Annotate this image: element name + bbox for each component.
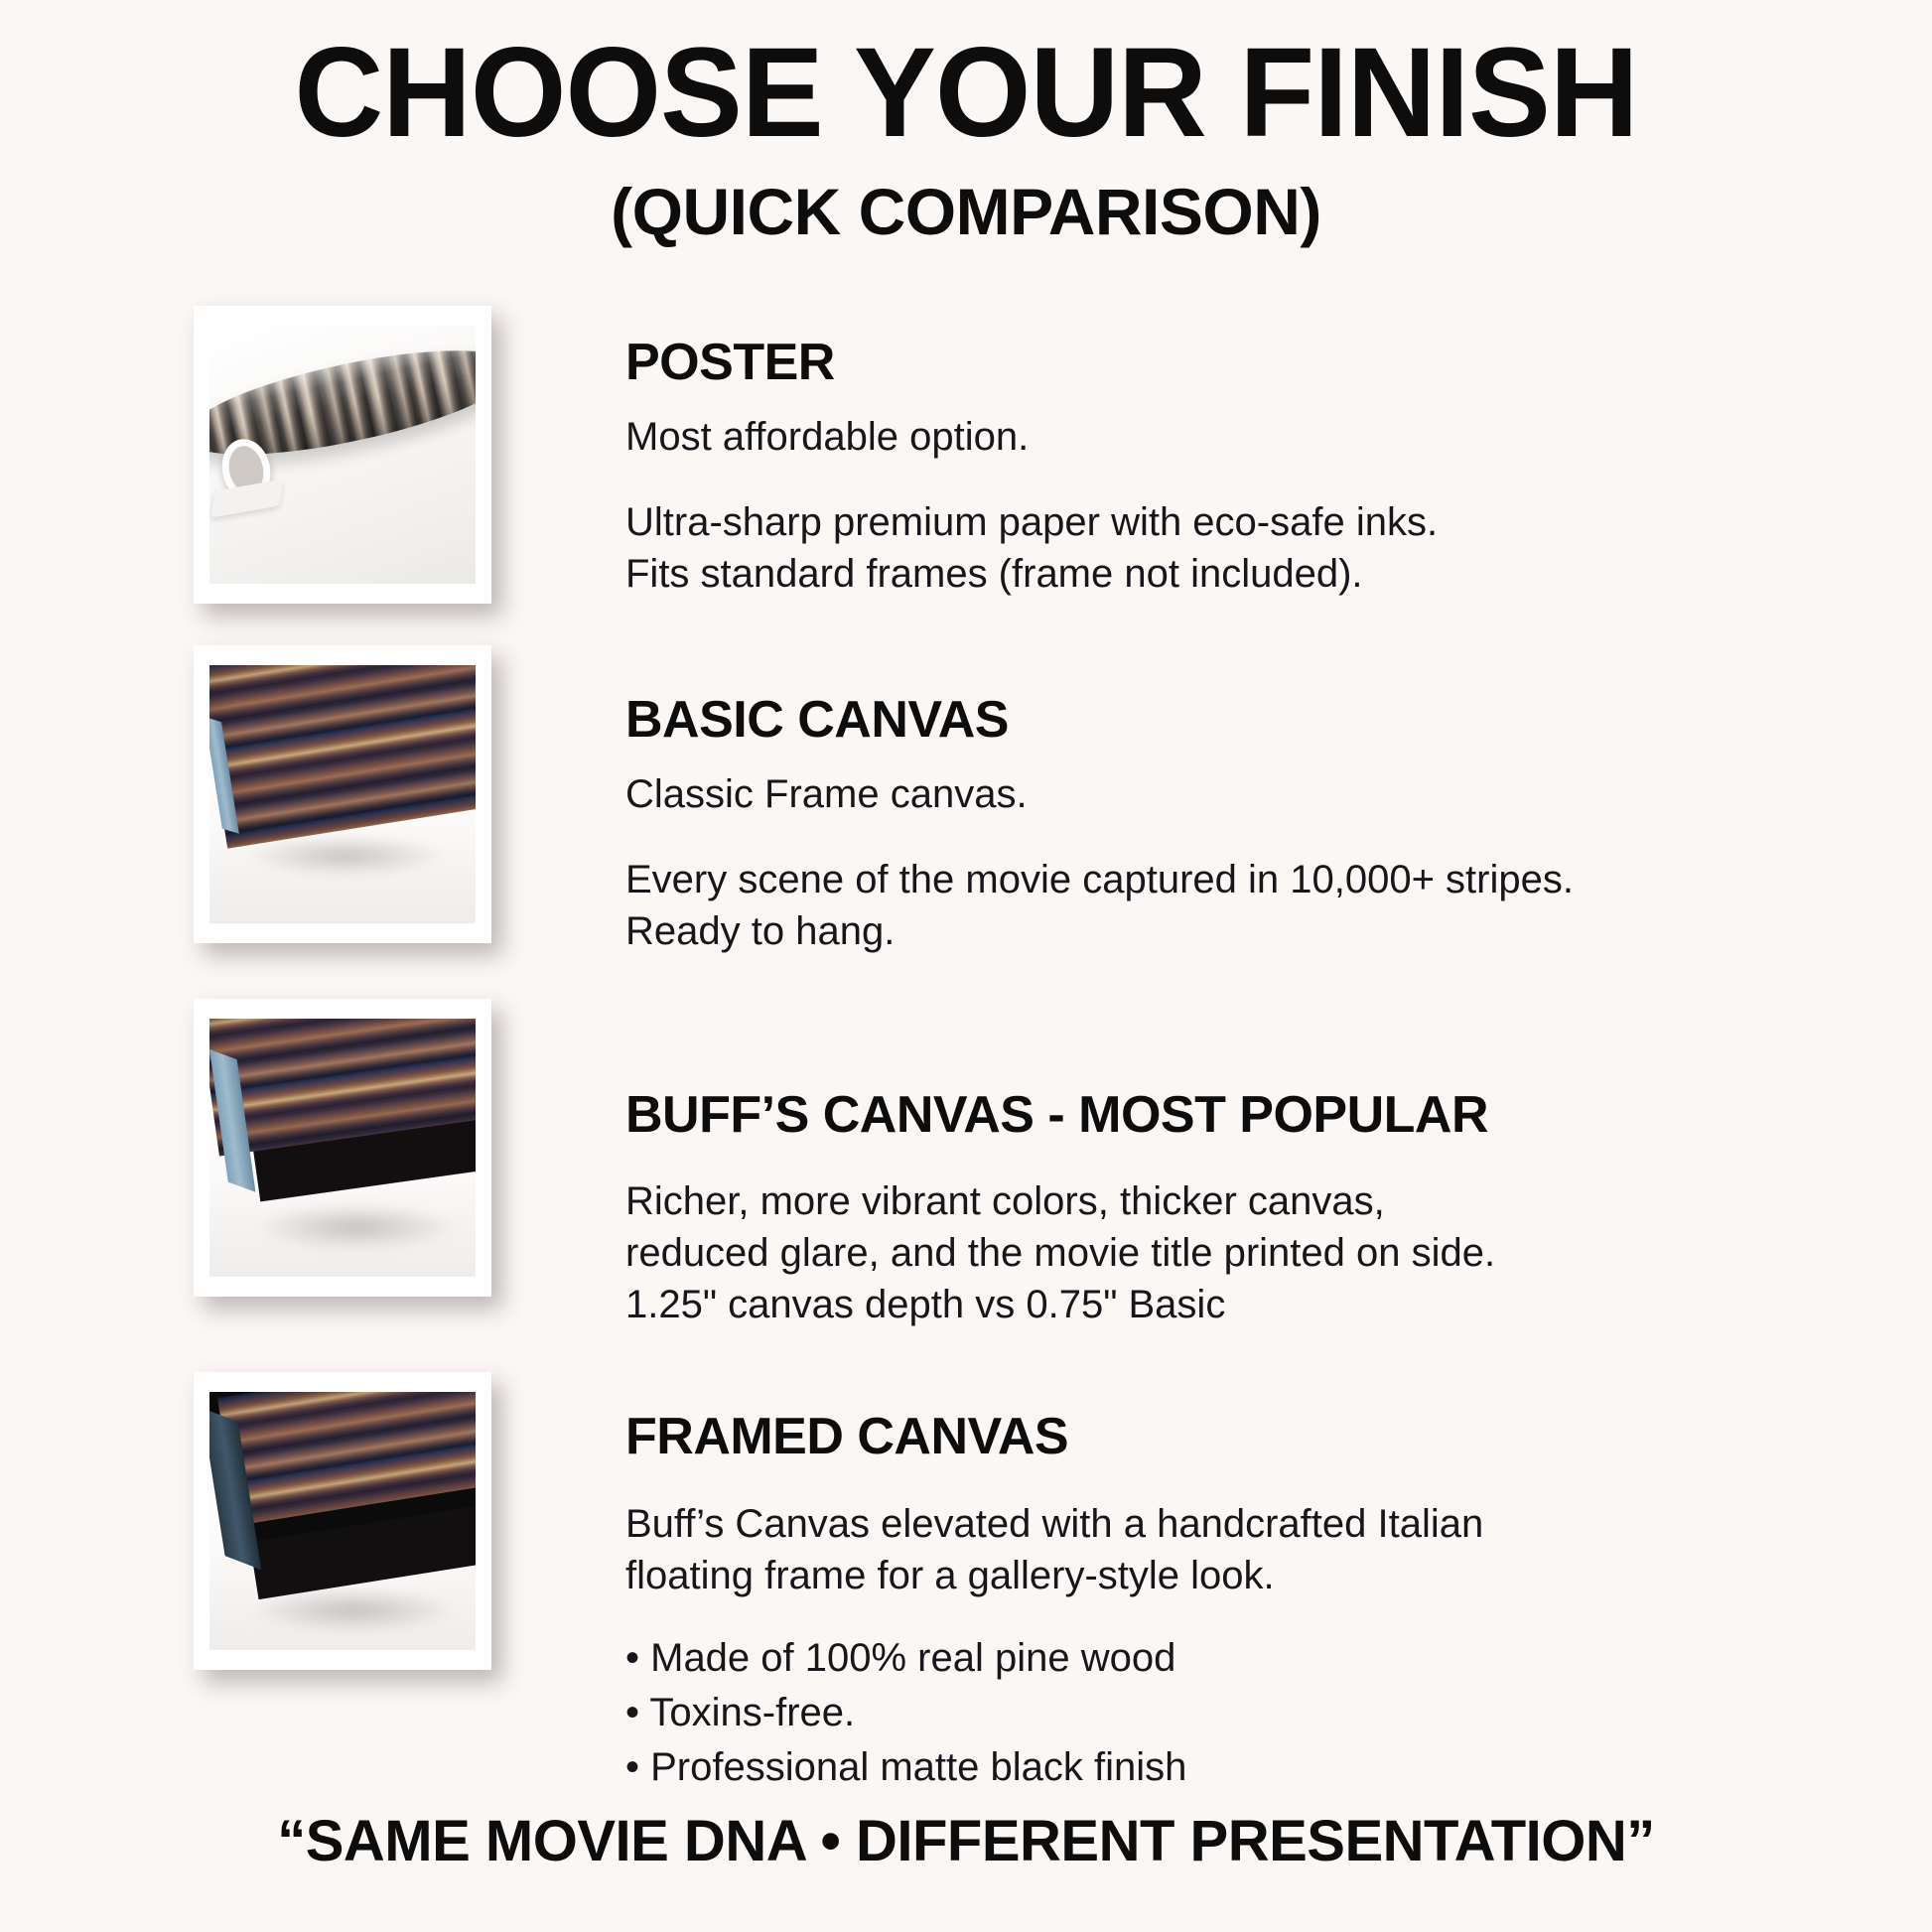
- body-line: Fits standard frames (frame not included…: [625, 548, 1932, 600]
- option-body-basic-canvas: Every scene of the movie captured in 10,…: [625, 854, 1932, 957]
- framed-canvas-feature-list: • Made of 100% real pine wood • Toxins-f…: [625, 1631, 1932, 1796]
- rolled-poster-photo: [209, 326, 476, 584]
- body-line: Buff’s Canvas elevated with a handcrafte…: [625, 1498, 1932, 1550]
- poster-image-card: [194, 306, 491, 604]
- page-subtitle: (QUICK COMPARISON): [0, 179, 1932, 244]
- body-line: Ultra-sharp premium paper with eco-safe …: [625, 496, 1932, 548]
- header: CHOOSE YOUR FINISH (QUICK COMPARISON): [0, 0, 1932, 244]
- poster-text-block: POSTER Most affordable option. Ultra-sha…: [491, 306, 1932, 600]
- option-body-framed-canvas: Buff’s Canvas elevated with a handcrafte…: [625, 1498, 1932, 1601]
- option-row-framed-canvas: FRAMED CANVAS Buff’s Canvas elevated wit…: [0, 1372, 1932, 1795]
- page-title: CHOOSE YOUR FINISH: [29, 30, 1903, 157]
- buffs-canvas-photo: [209, 1019, 476, 1277]
- comparison-infographic: CHOOSE YOUR FINISH (QUICK COMPARISON) PO…: [0, 0, 1932, 1932]
- option-lead-poster: Most affordable option.: [625, 412, 1932, 463]
- body-line: Richer, more vibrant colors, thicker can…: [625, 1175, 1932, 1227]
- body-line: 1.25" canvas depth vs 0.75" Basic: [625, 1279, 1932, 1330]
- canvas-drop-shadow: [247, 836, 444, 876]
- buffs-canvas-image-card: [194, 999, 491, 1297]
- body-line: Every scene of the movie captured in 10,…: [625, 854, 1932, 905]
- option-title-framed-canvas: FRAMED CANVAS: [625, 1410, 1932, 1464]
- basic-canvas-text-block: BASIC CANVAS Classic Frame canvas. Every…: [491, 645, 1932, 957]
- body-line: Ready to hang.: [625, 905, 1932, 957]
- body-line: reduced glare, and the movie title print…: [625, 1227, 1932, 1279]
- framed-canvas-text-block: FRAMED CANVAS Buff’s Canvas elevated wit…: [491, 1372, 1932, 1795]
- option-title-poster: POSTER: [625, 336, 1932, 390]
- buffs-canvas-text-block: BUFF’S CANVAS - MOST POPULAR Richer, mor…: [491, 999, 1932, 1331]
- option-row-basic-canvas: BASIC CANVAS Classic Frame canvas. Every…: [0, 645, 1932, 957]
- framed-canvas-photo: [209, 1392, 476, 1650]
- option-body-poster: Ultra-sharp premium paper with eco-safe …: [625, 496, 1932, 600]
- body-line: floating frame for a gallery-style look.: [625, 1550, 1932, 1601]
- list-item: • Toxins-free.: [625, 1686, 1932, 1740]
- option-lead-basic-canvas: Classic Frame canvas.: [625, 769, 1932, 820]
- footer-tagline: “SAME MOVIE DNA • DIFFERENT PRESENTATION…: [0, 1808, 1932, 1874]
- option-title-buffs-canvas: BUFF’S CANVAS - MOST POPULAR: [625, 1088, 1932, 1143]
- finish-options-list: POSTER Most affordable option. Ultra-sha…: [0, 306, 1932, 1796]
- option-title-basic-canvas: BASIC CANVAS: [625, 693, 1932, 748]
- list-item: • Professional matte black finish: [625, 1740, 1932, 1795]
- option-row-buffs-canvas: BUFF’S CANVAS - MOST POPULAR Richer, mor…: [0, 999, 1932, 1331]
- framed-canvas-image-card: [194, 1372, 491, 1670]
- option-row-poster: POSTER Most affordable option. Ultra-sha…: [0, 306, 1932, 604]
- list-item: • Made of 100% real pine wood: [625, 1631, 1932, 1686]
- canvas-drop-shadow: [257, 1204, 454, 1250]
- basic-canvas-photo: [209, 665, 476, 923]
- option-body-buffs-canvas: Richer, more vibrant colors, thicker can…: [625, 1175, 1932, 1330]
- basic-canvas-image-card: [194, 645, 491, 943]
